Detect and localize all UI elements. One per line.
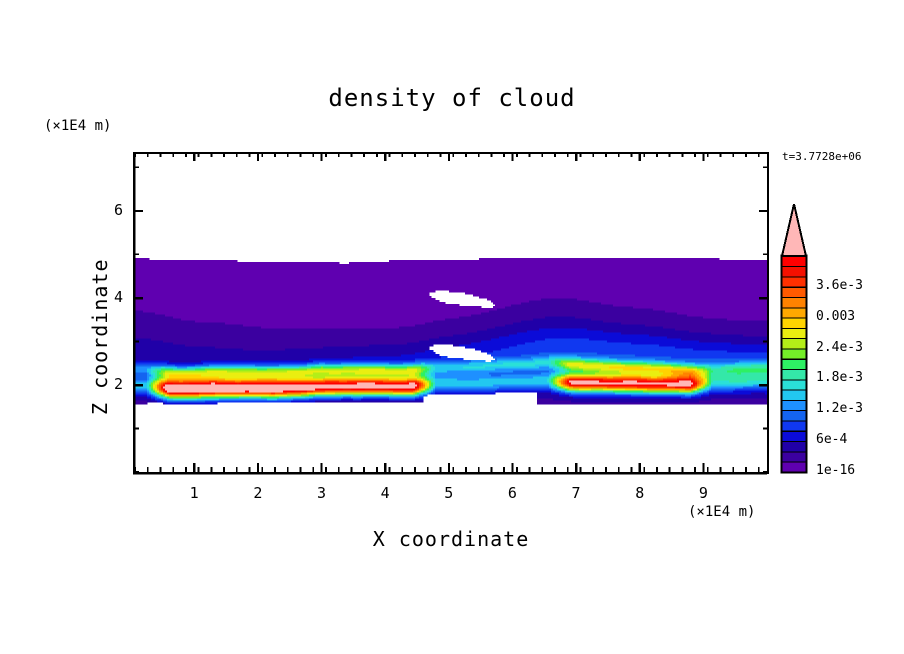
colorbar bbox=[782, 204, 807, 473]
y-tick-label-6: 6 bbox=[97, 201, 123, 219]
colorbar-tick-label-3.6e-3: 3.6e-3 bbox=[816, 278, 863, 293]
x-tick-label-4: 4 bbox=[370, 484, 400, 502]
x-tick-label-9: 9 bbox=[688, 484, 718, 502]
figure-canvas: density of cloud (×1E4 m) (×1E4 m) t=3.7… bbox=[0, 0, 904, 654]
contour-plot bbox=[0, 0, 904, 654]
colorbar-tick-label-1.2e-3: 1.2e-3 bbox=[816, 401, 863, 416]
colorbar-tick-label-0.003: 0.003 bbox=[816, 309, 855, 324]
y-tick-label-4: 4 bbox=[97, 288, 123, 306]
x-tick-label-1: 1 bbox=[179, 484, 209, 502]
x-tick-label-2: 2 bbox=[243, 484, 273, 502]
x-tick-label-7: 7 bbox=[561, 484, 591, 502]
x-tick-label-5: 5 bbox=[434, 484, 464, 502]
x-tick-label-8: 8 bbox=[625, 484, 655, 502]
colorbar-tick-label-1e-16: 1e-16 bbox=[816, 463, 855, 478]
colorbar-tick-label-6e-4: 6e-4 bbox=[816, 432, 847, 447]
x-tick-label-3: 3 bbox=[306, 484, 336, 502]
density-field bbox=[135, 258, 768, 405]
colorbar-tick-label-1.8e-3: 1.8e-3 bbox=[816, 370, 863, 385]
colorbar-tick-label-2.4e-3: 2.4e-3 bbox=[816, 340, 863, 355]
y-tick-label-2: 2 bbox=[97, 375, 123, 393]
x-tick-label-6: 6 bbox=[497, 484, 527, 502]
